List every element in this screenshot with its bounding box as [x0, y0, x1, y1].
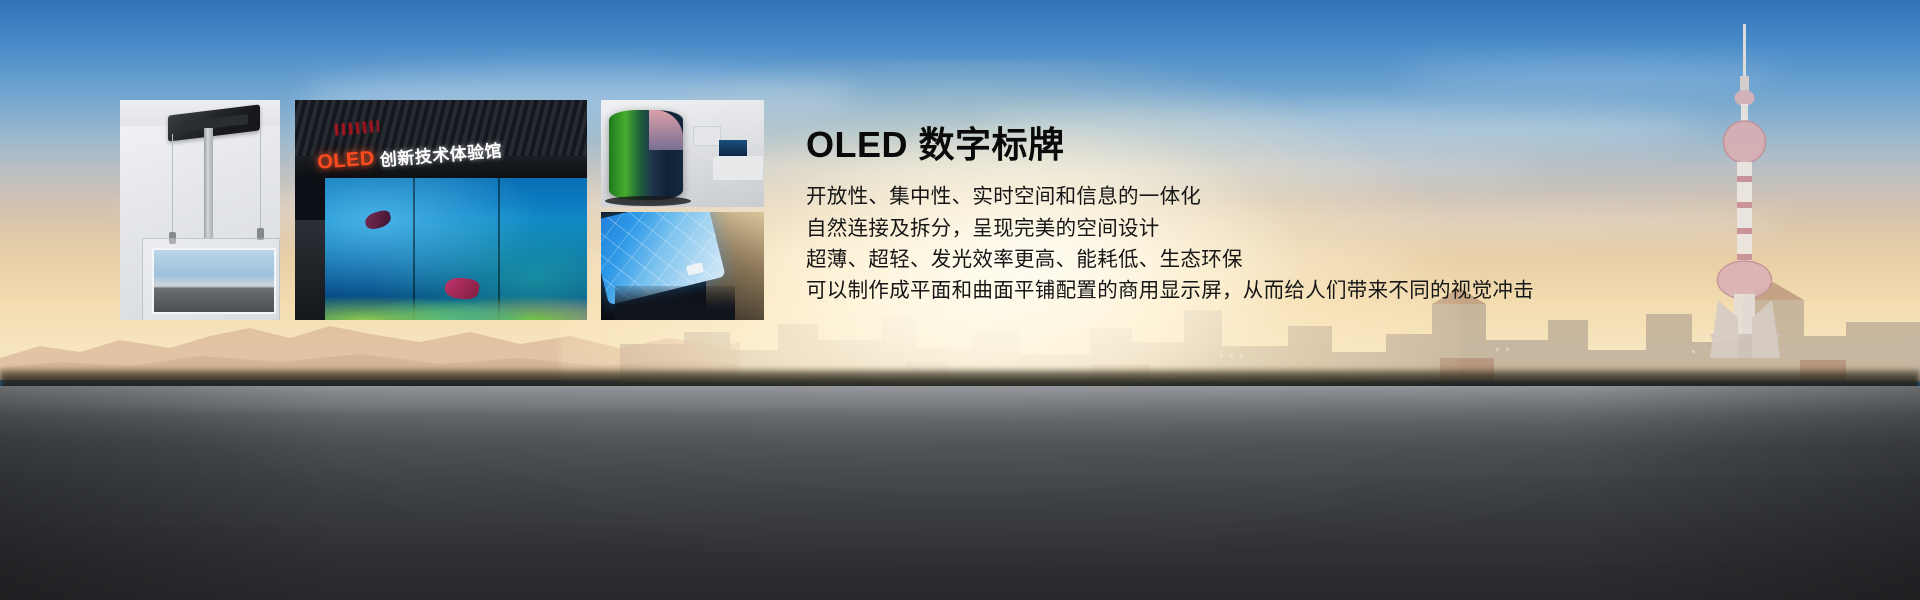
road-vignette — [0, 386, 1920, 600]
page-title: OLED 数字标牌 — [806, 124, 1866, 165]
description-line-1: 开放性、集中性、实时空间和信息的一体化 — [806, 181, 1866, 212]
description-line-2: 自然连接及拆分，呈现完美的空间设计 — [806, 213, 1866, 244]
oled-screen — [152, 248, 276, 314]
support-pole — [204, 128, 213, 238]
suspension-wire — [172, 134, 173, 234]
photo-ceiling-mounted-oled-tv — [120, 100, 280, 320]
background-tv — [719, 140, 747, 156]
wall-artwork — [693, 126, 721, 146]
hall-floor-left — [295, 220, 327, 320]
suspension-wire — [260, 130, 261, 230]
screen-coral — [325, 284, 587, 320]
photo-oled-video-wall-exhibition-hall: OLED 创新技术体验馆 — [295, 100, 587, 320]
signage-oled-text: OLED — [316, 147, 375, 174]
description-list: 开放性、集中性、实时空间和信息的一体化 自然连接及拆分，呈现完美的空间设计 超薄… — [806, 181, 1866, 306]
description-line-4: 可以制作成平面和曲面平铺配置的商用显示屏，从而给人们带来不同的视觉冲击 — [806, 275, 1866, 306]
description-line-3: 超薄、超轻、发光效率更高、能耗低、生态环保 — [806, 244, 1866, 275]
oled-digital-signage-banner: OLED 创新技术体验馆 — [0, 0, 1920, 600]
corridor-floor — [615, 286, 735, 320]
photo-oled-ceiling-canopy-display — [601, 212, 764, 320]
banner-text-block: OLED 数字标牌 开放性、集中性、实时空间和信息的一体化 自然连接及拆分，呈现… — [806, 124, 1866, 306]
product-photo-strip: OLED 创新技术体验馆 — [120, 100, 764, 320]
screen-skyline-content — [649, 110, 683, 150]
showroom-counter — [713, 156, 763, 180]
curved-oled-screen — [609, 110, 683, 200]
photo-curved-oled-pillar-display — [601, 100, 764, 207]
display-base — [605, 196, 691, 206]
